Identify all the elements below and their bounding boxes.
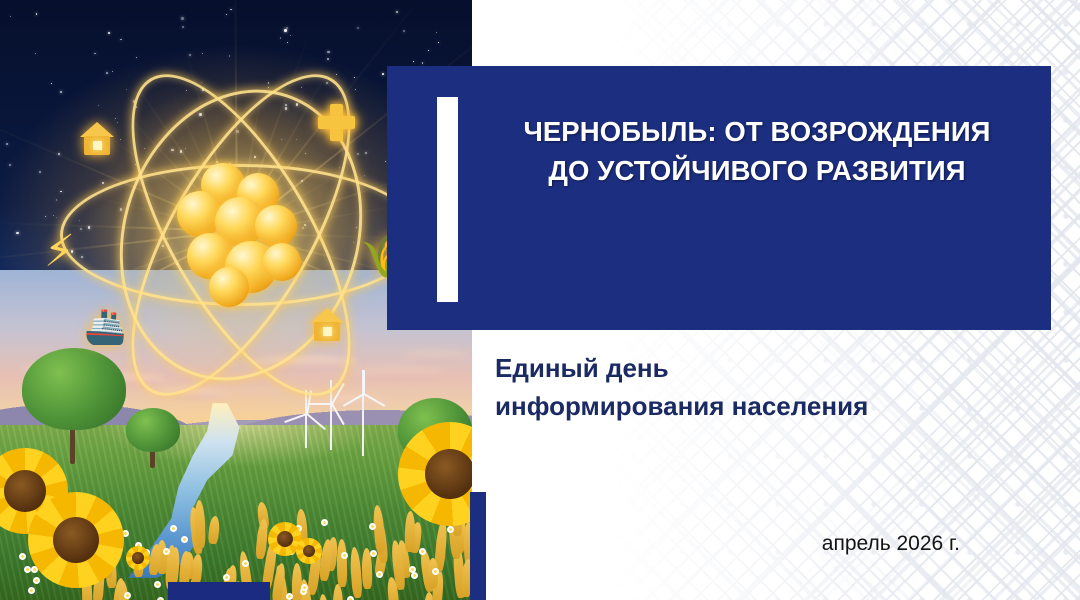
bottom-accent-bar bbox=[168, 582, 270, 600]
title-accent-bar bbox=[437, 97, 458, 302]
title-panel: ЧЕРНОБЫЛЬ: ОТ ВОЗРОЖДЕНИЯ ДО УСТОЙЧИВОГО… bbox=[387, 66, 1051, 330]
sunflower bbox=[126, 546, 150, 570]
house-icon bbox=[310, 308, 344, 342]
house-icon bbox=[80, 122, 114, 156]
presentation-slide: ⚡ 🌾 🚢 ЧЕРНОБЫЛЬ: ОТ ВОЗРОЖДЕНИЯ ДО УСТОЙ… bbox=[0, 0, 1080, 600]
subtitle: Единый день информирования населения bbox=[495, 350, 1015, 425]
medical-cross-icon bbox=[318, 104, 355, 141]
sunflower bbox=[398, 422, 472, 526]
subtitle-line-1: Единый день bbox=[495, 350, 1015, 388]
sunflower bbox=[296, 538, 322, 564]
wind-turbine bbox=[352, 370, 374, 456]
slide-date: апрель 2026 г. bbox=[560, 532, 960, 556]
tree bbox=[126, 408, 180, 452]
subtitle-line-2: информирования населения bbox=[495, 388, 1015, 426]
atom-symbol: ⚡ 🌾 🚢 bbox=[52, 82, 424, 382]
title-line-2: ДО УСТОЙЧИВОГО РАЗВИТИЯ bbox=[483, 151, 1031, 190]
wind-turbine bbox=[298, 390, 314, 448]
sunflower bbox=[28, 492, 124, 588]
atom-nucleus bbox=[163, 157, 313, 307]
title-line-1: ЧЕРНОБЫЛЬ: ОТ ВОЗРОЖДЕНИЯ bbox=[483, 112, 1031, 151]
ship-icon: 🚢 bbox=[84, 310, 126, 344]
page-title: ЧЕРНОБЫЛЬ: ОТ ВОЗРОЖДЕНИЯ ДО УСТОЙЧИВОГО… bbox=[483, 112, 1031, 190]
lightning-bolt-icon: ⚡ bbox=[44, 230, 75, 274]
vertical-accent-bar bbox=[470, 492, 486, 600]
